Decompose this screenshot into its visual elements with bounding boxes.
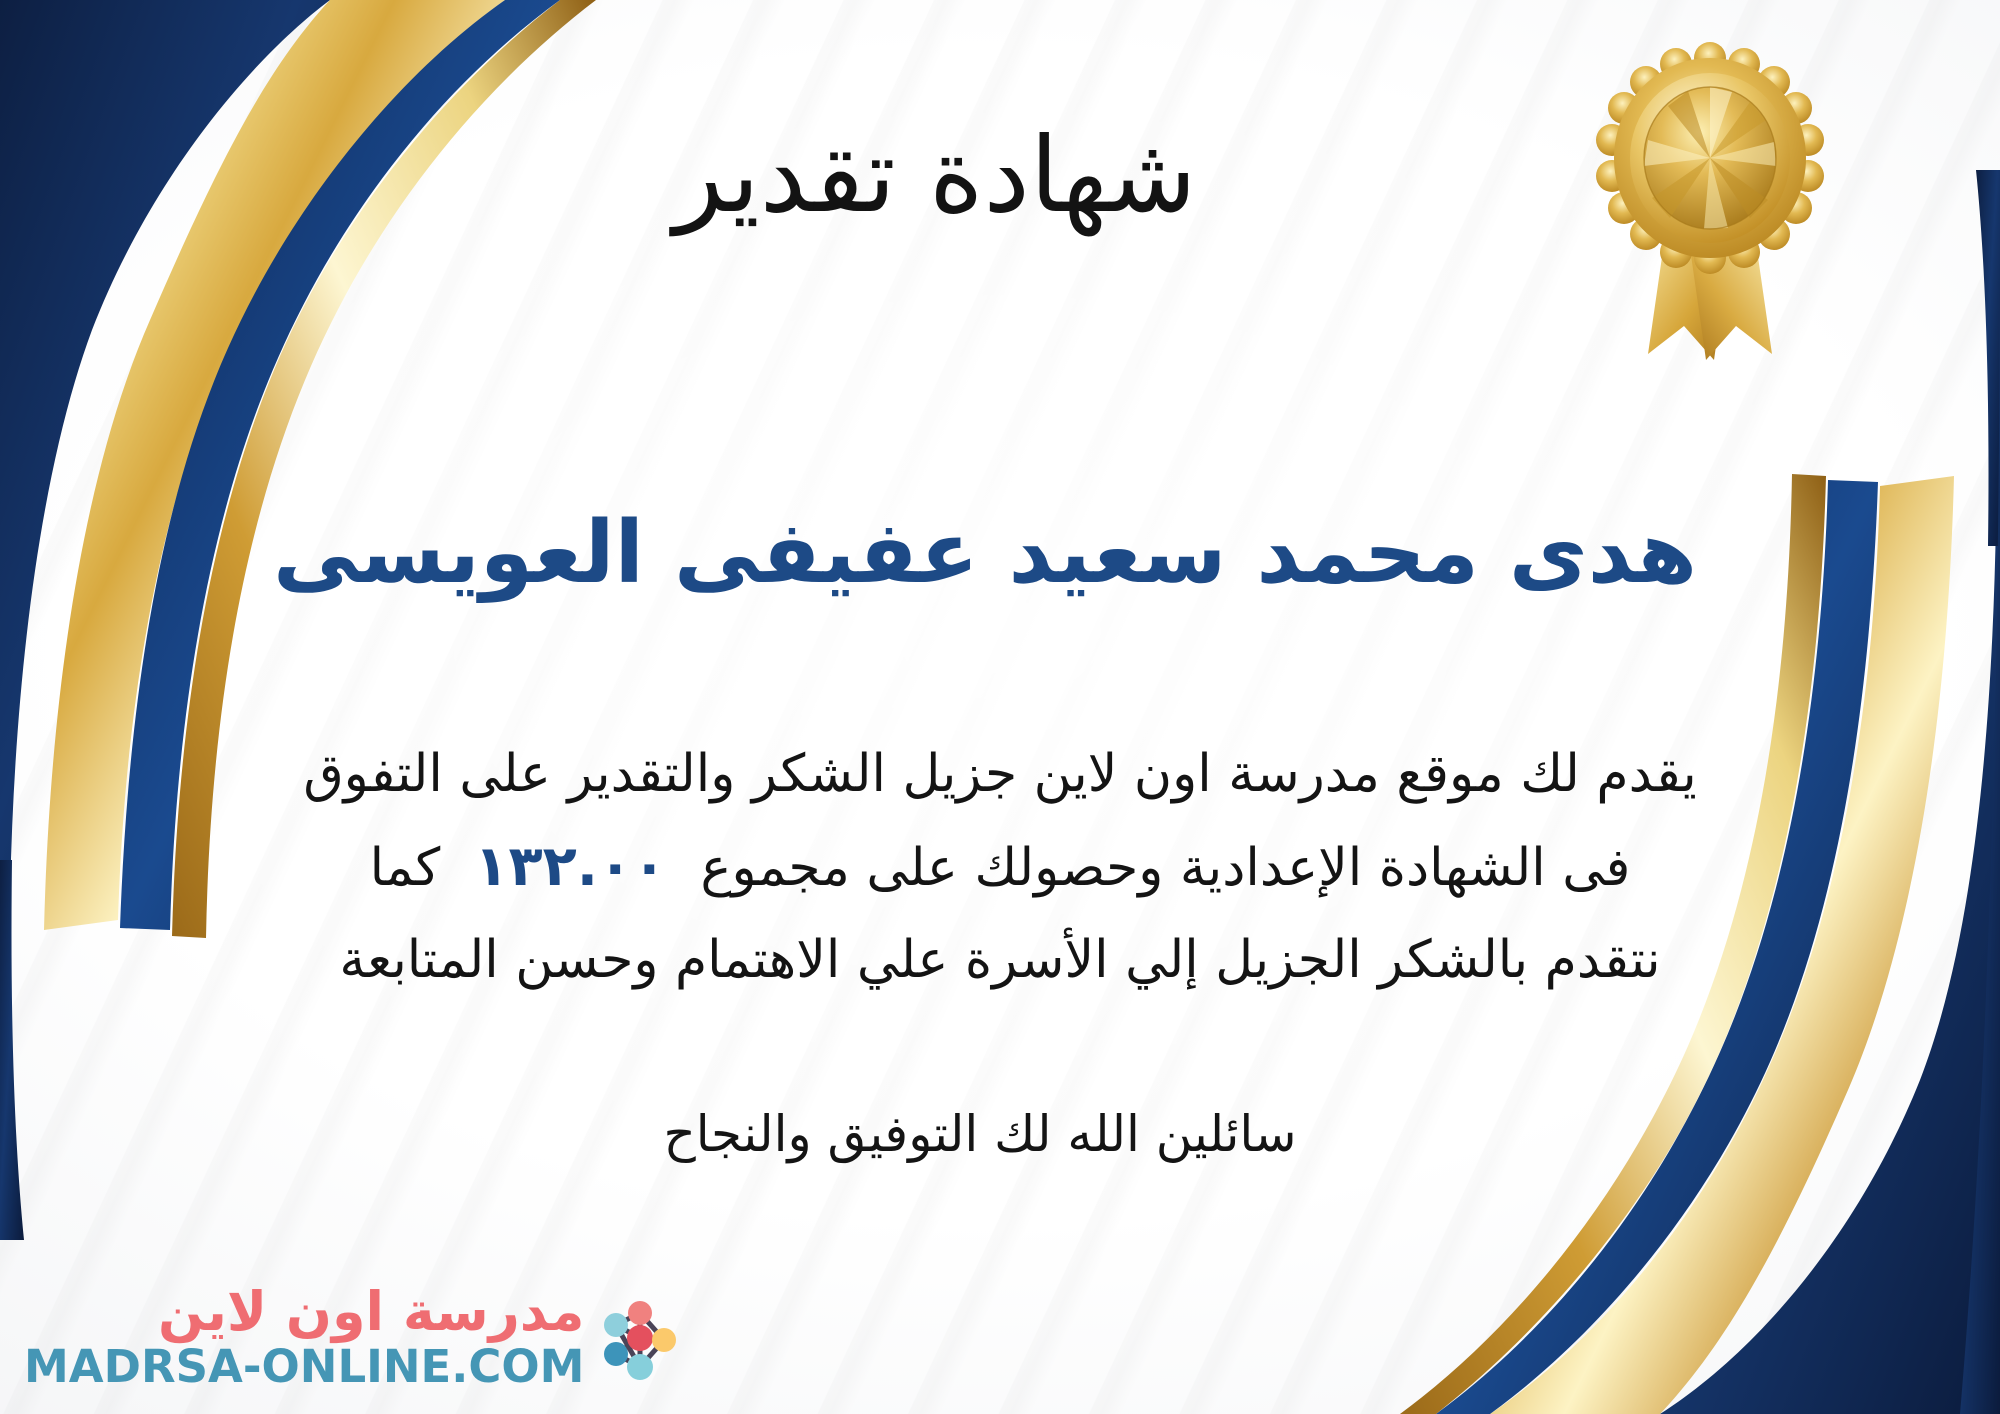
- brand-logo[interactable]: مدرسة اون لاين MADRSA-ONLINE.COM: [24, 1285, 686, 1392]
- certificate-body: يقدم لك موقع مدرسة اون لاين جزيل الشكر و…: [40, 730, 1960, 1005]
- network-nodes-icon: [594, 1293, 686, 1385]
- certificate-content: شهادة تقدير هدى محمد سعيد عفيفى العويسى …: [0, 0, 2000, 1414]
- body-line-3: نتقدم بالشكر الجزيل إلي الأسرة علي الاهت…: [40, 916, 1960, 1005]
- body-line-2-right: فى الشهادة الإعدادية وحصولك على مجموع: [700, 838, 1630, 898]
- body-line-2-left: كما: [370, 838, 441, 898]
- brand-arabic-name: مدرسة اون لاين: [158, 1285, 584, 1339]
- closing-line: سائلين الله لك التوفيق والنجاح: [0, 1105, 2000, 1163]
- body-line-1: يقدم لك موقع مدرسة اون لاين جزيل الشكر و…: [40, 730, 1960, 819]
- grade-total-value: ١٣٢.٠٠: [440, 834, 700, 899]
- page-title: شهادة تقدير: [0, 118, 2000, 232]
- recipient-name: هدى محمد سعيد عفيفى العويسى: [0, 505, 2000, 601]
- certificate-page: شهادة تقدير هدى محمد سعيد عفيفى العويسى …: [0, 0, 2000, 1414]
- brand-website: MADRSA-ONLINE.COM: [24, 1343, 584, 1392]
- body-line-2: فى الشهادة الإعدادية وحصولك على مجموع١٣٢…: [40, 819, 1960, 915]
- brand-text: مدرسة اون لاين MADRSA-ONLINE.COM: [24, 1285, 584, 1392]
